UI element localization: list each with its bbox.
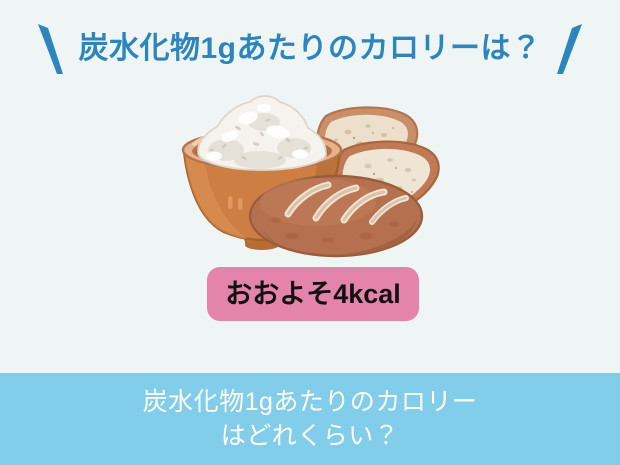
bread-loaf-icon — [250, 176, 422, 256]
answer-badge: おおよそ4kcal — [207, 267, 419, 321]
title-row: 炭水化物1gあたりのカロリーは？ — [0, 18, 620, 80]
slash-mark-right-icon — [554, 20, 584, 78]
caption-line-1: 炭水化物1gあたりのカロリー — [143, 386, 478, 418]
caption-line-2: はどれくらい？ — [221, 420, 400, 452]
page-title: 炭水化物1gあたりのカロリーは？ — [78, 34, 541, 64]
slash-mark-left-icon — [36, 20, 66, 78]
caption-bar: 炭水化物1gあたりのカロリー はどれくらい？ — [0, 373, 620, 465]
answer-badge-label: おおよそ4kcal — [225, 281, 401, 308]
carbohydrate-foods-illustration — [168, 88, 452, 258]
slide-root: 炭水化物1gあたりのカロリーは？ — [0, 0, 620, 465]
